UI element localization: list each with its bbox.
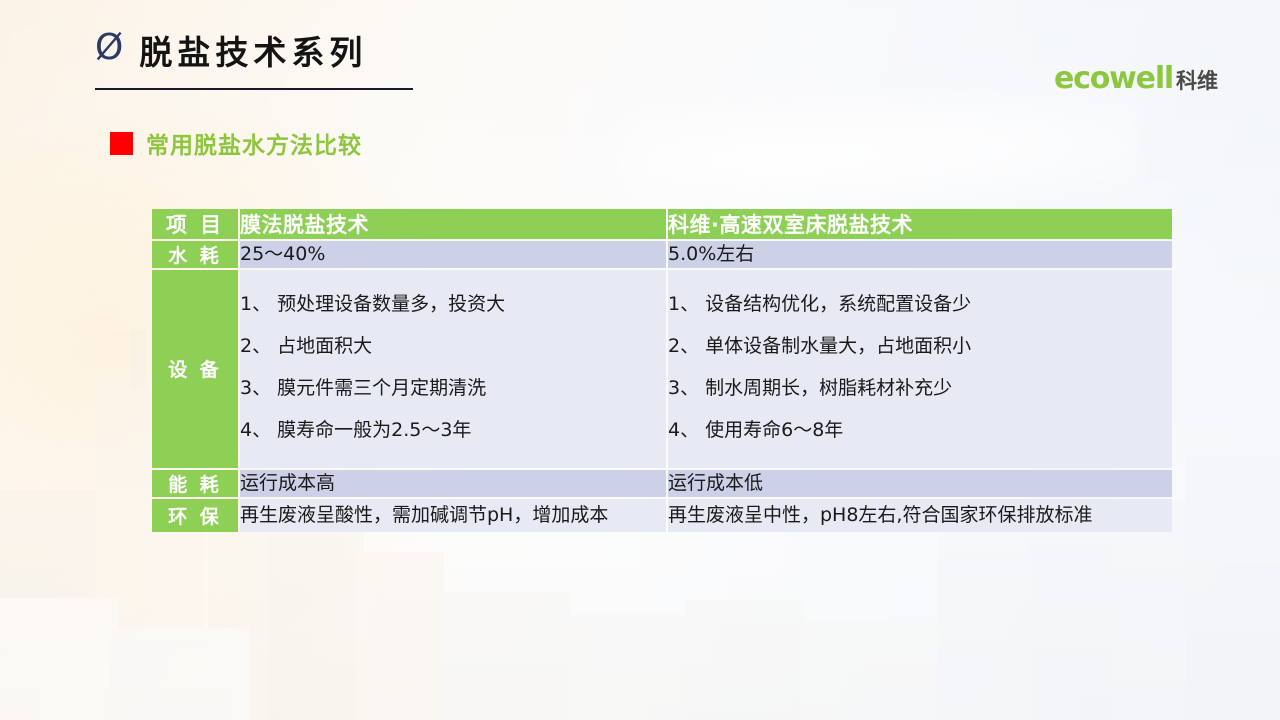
table-row: 水 耗 25～40% 5.0%左右	[152, 241, 1172, 268]
comparison-table: 项 目 膜法脱盐技术 科维·高速双室床脱盐技术 水 耗 25～40% 5.0%左…	[150, 207, 1174, 534]
row-label-energy: 能 耗	[152, 470, 238, 497]
list-item: 1、 预处理设备数量多，投资大	[240, 284, 666, 326]
table-row: 环 保 再生废液呈酸性，需加碱调节pH，增加成本 再生废液呈中性，pH8左右,符…	[152, 499, 1172, 532]
row-water-left: 25～40%	[240, 241, 666, 268]
list-item: 3、 膜元件需三个月定期清洗	[240, 368, 666, 410]
list-item: 4、 膜寿命一般为2.5～3年	[240, 410, 666, 452]
row-energy-right: 运行成本低	[668, 470, 1172, 497]
row-environment-left: 再生废液呈酸性，需加碱调节pH，增加成本	[240, 499, 666, 532]
row-label-water: 水 耗	[152, 241, 238, 268]
logo-wordmark-cn: 科维	[1176, 71, 1218, 92]
header-cell-label: 项 目	[152, 209, 238, 239]
red-square-bullet-icon	[110, 132, 133, 155]
row-equipment-left: 1、 预处理设备数量多，投资大 2、 占地面积大 3、 膜元件需三个月定期清洗 …	[240, 270, 666, 468]
slide: Ø 脱盐技术系列 常用脱盐水方法比较 ecowell 科维 项 目 膜法脱盐技术…	[0, 0, 1280, 720]
row-environment-right: 再生废液呈中性，pH8左右,符合国家环保排放标准	[668, 499, 1172, 532]
table-row: 设 备 1、 预处理设备数量多，投资大 2、 占地面积大 3、 膜元件需三个月定…	[152, 270, 1172, 468]
table-header-row: 项 目 膜法脱盐技术 科维·高速双室床脱盐技术	[152, 209, 1172, 239]
header-cell-right: 科维·高速双室床脱盐技术	[668, 209, 1172, 239]
logo-wordmark: ecowell	[1054, 64, 1173, 94]
subtitle-row: 常用脱盐水方法比较	[110, 126, 362, 160]
title-row: Ø 脱盐技术系列	[95, 26, 615, 74]
list-item: 2、 占地面积大	[240, 326, 666, 368]
row-equipment-right: 1、 设备结构优化，系统配置设备少 2、 单体设备制水量大，占地面积小 3、 制…	[668, 270, 1172, 468]
row-environment-left-text: 再生废液呈酸性，需加碱调节pH，增加成本	[240, 499, 666, 532]
list-item: 3、 制水周期长，树脂耗材补充少	[668, 368, 1172, 410]
page-title: 脱盐技术系列	[139, 26, 367, 74]
row-label-environment: 环 保	[152, 499, 238, 532]
ecowell-logo: ecowell 科维	[1054, 64, 1218, 94]
list-item: 4、 使用寿命6～8年	[668, 410, 1172, 452]
equipment-left-list: 1、 预处理设备数量多，投资大 2、 占地面积大 3、 膜元件需三个月定期清洗 …	[240, 284, 666, 452]
row-label-equipment: 设 备	[152, 270, 238, 468]
row-environment-right-text: 再生废液呈中性，pH8左右,符合国家环保排放标准	[668, 499, 1172, 532]
row-water-right: 5.0%左右	[668, 241, 1172, 268]
section-subtitle: 常用脱盐水方法比较	[146, 126, 362, 160]
comparison-table-wrapper: 项 目 膜法脱盐技术 科维·高速双室床脱盐技术 水 耗 25～40% 5.0%左…	[150, 207, 1168, 534]
list-item: 1、 设备结构优化，系统配置设备少	[668, 284, 1172, 326]
slide-header: Ø 脱盐技术系列	[95, 26, 615, 90]
header-cell-left: 膜法脱盐技术	[240, 209, 666, 239]
list-item: 2、 单体设备制水量大，占地面积小	[668, 326, 1172, 368]
row-energy-left: 运行成本高	[240, 470, 666, 497]
table-row: 能 耗 运行成本高 运行成本低	[152, 470, 1172, 497]
equipment-right-list: 1、 设备结构优化，系统配置设备少 2、 单体设备制水量大，占地面积小 3、 制…	[668, 284, 1172, 452]
diameter-symbol-icon: Ø	[95, 30, 123, 66]
title-underline	[95, 88, 413, 90]
